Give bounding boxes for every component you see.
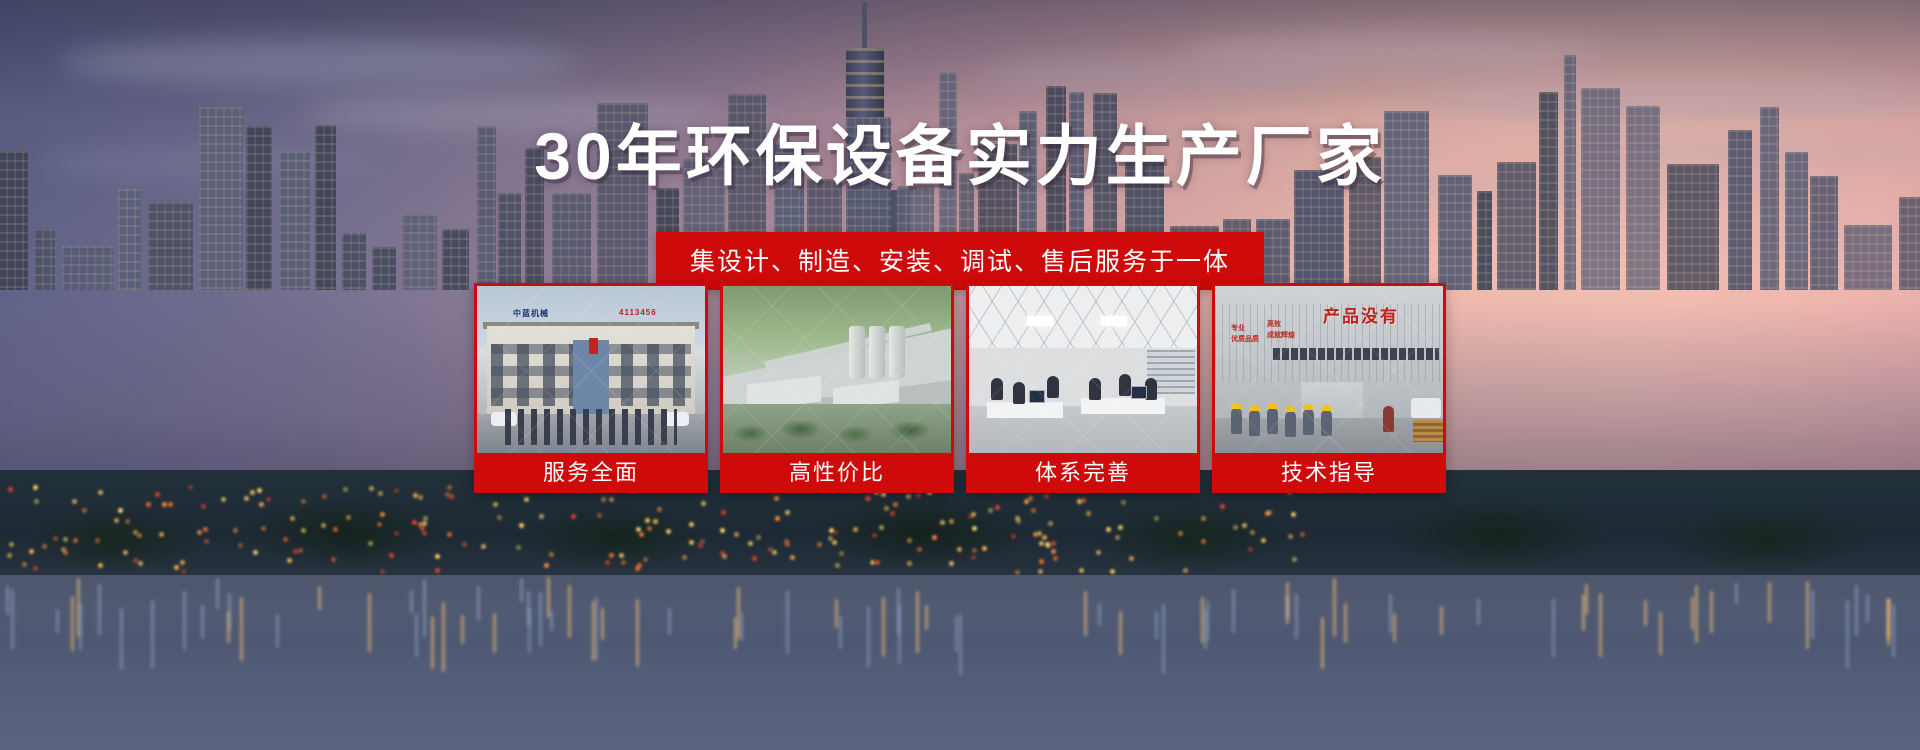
hardhat-icon	[1267, 403, 1278, 409]
storage-silo	[849, 326, 865, 378]
building-phone-text: 4113456	[619, 308, 657, 317]
feature-card[interactable]: 中蓝机械 4113456 服务全面	[474, 283, 708, 493]
hero-banner: 30年环保设备实力生产厂家 集设计、制造、安装、调试、售后服务于一体 中蓝机械 …	[0, 0, 1920, 750]
factory-supervisor	[1383, 406, 1394, 432]
feature-card[interactable]: 高性价比	[720, 283, 954, 493]
ceiling-grid	[969, 286, 1197, 348]
ceiling-light	[1101, 316, 1127, 326]
card-thumbnail-office-room[interactable]	[969, 286, 1197, 453]
factory-wall-slogan-small: 专业优质品质	[1231, 324, 1259, 345]
factory-worker	[1285, 411, 1296, 437]
factory-worker	[1303, 409, 1314, 435]
ceiling-light	[1027, 316, 1053, 326]
factory-wall-slogan: 产品没有	[1323, 308, 1399, 325]
card-caption: 服务全面	[477, 453, 705, 493]
card-thumbnail-factory[interactable]: 产品没有 专业优质品质 高效成就辉煌	[1215, 286, 1443, 453]
card-caption: 技术指导	[1215, 453, 1443, 493]
office-desk	[1081, 398, 1165, 416]
card-caption: 体系完善	[969, 453, 1197, 493]
office-worker	[991, 378, 1003, 400]
plant-treeline	[723, 404, 951, 453]
factory-worker	[1249, 410, 1260, 436]
factory-worker	[1267, 408, 1278, 434]
banner-content: 30年环保设备实力生产厂家 集设计、制造、安装、调试、售后服务于一体 中蓝机械 …	[0, 0, 1920, 750]
factory-strip-window	[1271, 348, 1439, 360]
hardhat-icon	[1285, 406, 1296, 412]
factory-wall-slogan-small: 高效成就辉煌	[1267, 320, 1295, 341]
hardhat-icon	[1231, 403, 1242, 409]
monitor-icon	[1029, 390, 1045, 403]
hardhat-icon	[1249, 405, 1260, 411]
storage-silo	[889, 326, 905, 378]
flag-icon	[589, 338, 598, 354]
monitor-icon	[1131, 386, 1147, 399]
feature-card[interactable]: 产品没有 专业优质品质 高效成就辉煌 技	[1212, 283, 1446, 493]
card-thumbnail-office-building[interactable]: 中蓝机械 4113456	[477, 286, 705, 453]
banner-subtitle-bar: 集设计、制造、安装、调试、售后服务于一体	[656, 232, 1264, 290]
feature-card-list: 中蓝机械 4113456 服务全面	[474, 283, 1446, 493]
storage-silo	[869, 326, 885, 378]
stacked-material	[1413, 420, 1443, 442]
factory-worker	[1321, 410, 1332, 436]
staff-lineup	[505, 409, 677, 445]
office-desk	[987, 402, 1063, 420]
banner-headline: 30年环保设备实力生产厂家	[0, 103, 1920, 199]
office-worker	[1089, 378, 1101, 400]
feature-card[interactable]: 体系完善	[966, 283, 1200, 493]
card-caption: 高性价比	[723, 453, 951, 493]
hardhat-icon	[1303, 404, 1314, 410]
card-thumbnail-plant-aerial[interactable]	[723, 286, 951, 453]
hardhat-icon	[1321, 405, 1332, 411]
office-worker	[1047, 376, 1059, 398]
parked-truck	[1411, 398, 1441, 418]
office-worker	[1119, 374, 1131, 396]
office-worker	[1013, 382, 1025, 404]
building-sign-text: 中蓝机械	[513, 308, 549, 319]
factory-worker	[1231, 408, 1242, 434]
